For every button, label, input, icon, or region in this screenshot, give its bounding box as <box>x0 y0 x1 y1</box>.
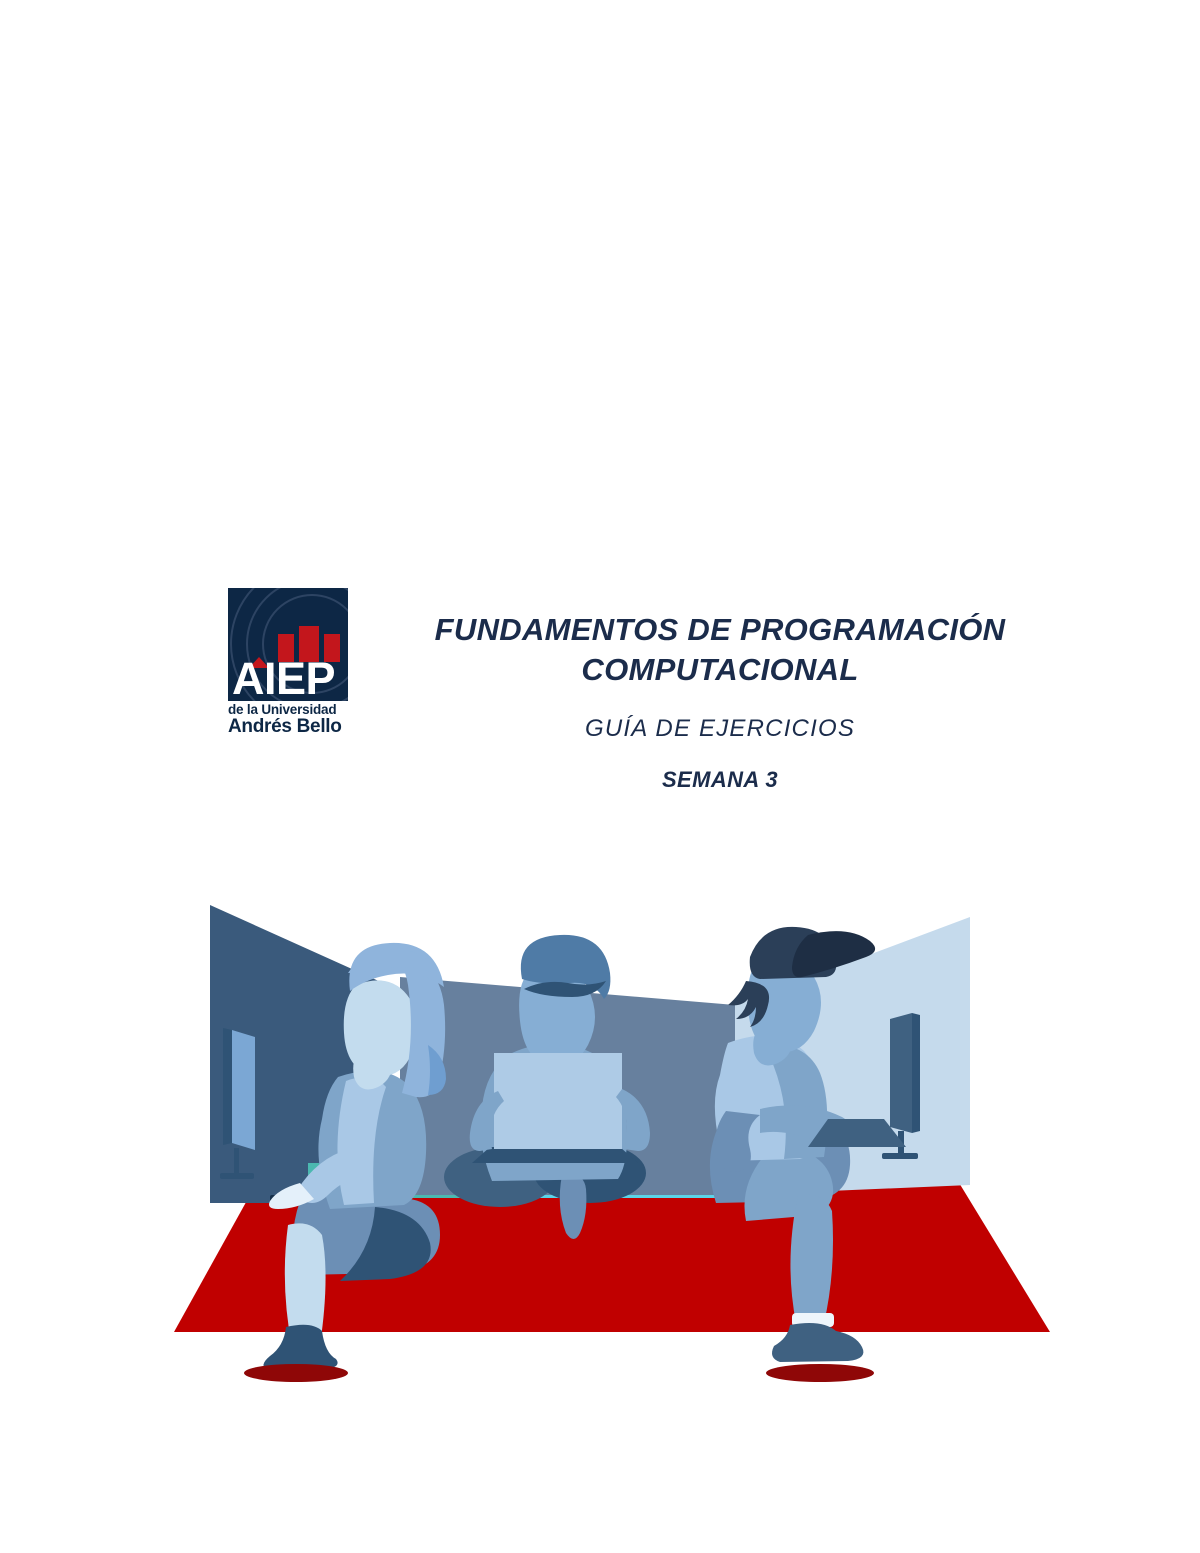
page-title: FUNDAMENTOS DE PROGRAMACIÓN COMPUTACIONA… <box>400 610 1040 689</box>
laptop-screen <box>494 1053 622 1149</box>
monitor-right-base <box>882 1153 918 1159</box>
monitor-left-stand <box>234 1148 239 1174</box>
logo-acronym: AIEP <box>232 658 335 699</box>
cover-page: AIEP de la Universidad Andrés Bello FUND… <box>0 0 1200 1553</box>
logo-subtitle-line1: de la Universidad <box>228 703 356 717</box>
page-title-line2: COMPUTACIONAL <box>400 650 1040 690</box>
aiep-logo: AIEP de la Universidad Andrés Bello <box>228 588 356 748</box>
monitor-left-screen <box>232 1030 255 1150</box>
woman-shadow <box>244 1364 348 1382</box>
monitor-left-body <box>223 1028 232 1145</box>
illustration-svg <box>160 895 1050 1395</box>
page-title-line1: FUNDAMENTOS DE PROGRAMACIÓN <box>400 610 1040 650</box>
monitor-left-base <box>220 1173 254 1179</box>
monitor-right-screen <box>890 1013 912 1133</box>
logo-subtitle-line2: Andrés Bello <box>228 717 356 737</box>
woman-face <box>344 980 418 1076</box>
cover-header: AIEP de la Universidad Andrés Bello FUND… <box>0 588 1200 803</box>
document-subtitle: GUÍA DE EJERCICIOS <box>400 715 1040 743</box>
cap-person-shin <box>790 1194 833 1323</box>
laptop-base <box>472 1147 638 1163</box>
cap-person-shadow <box>766 1364 874 1382</box>
week-label: SEMANA 3 <box>400 767 1040 793</box>
logo-emblem: AIEP <box>228 588 348 701</box>
cover-illustration <box>160 895 1050 1395</box>
monitor-right-body <box>912 1013 920 1133</box>
title-block: FUNDAMENTOS DE PROGRAMACIÓN COMPUTACIONA… <box>400 610 1040 793</box>
